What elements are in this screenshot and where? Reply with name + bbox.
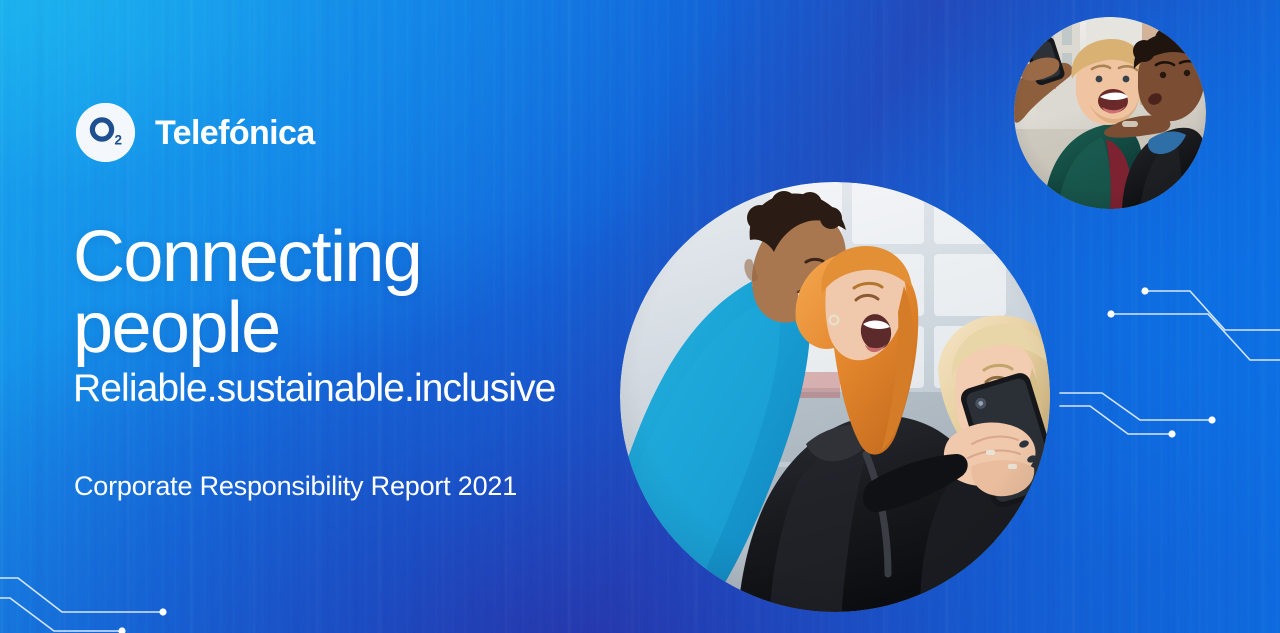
- report-subtitle: Corporate Responsibility Report 2021: [74, 473, 517, 500]
- brand-lockup: 2 Telefónica: [76, 103, 315, 162]
- photo-three-friends-with-phone: [620, 182, 1050, 612]
- tagline: Reliable.sustainable.inclusive: [73, 369, 555, 408]
- photo-two-men-selfie: [1014, 17, 1206, 209]
- svg-text:2: 2: [115, 133, 123, 148]
- brand-wordmark: Telefónica: [155, 116, 315, 150]
- o2-logo-icon: 2: [76, 103, 135, 162]
- report-cover: 2 Telefónica Connecting people Reliable.…: [0, 0, 1280, 633]
- page-title: Connecting people: [73, 222, 421, 365]
